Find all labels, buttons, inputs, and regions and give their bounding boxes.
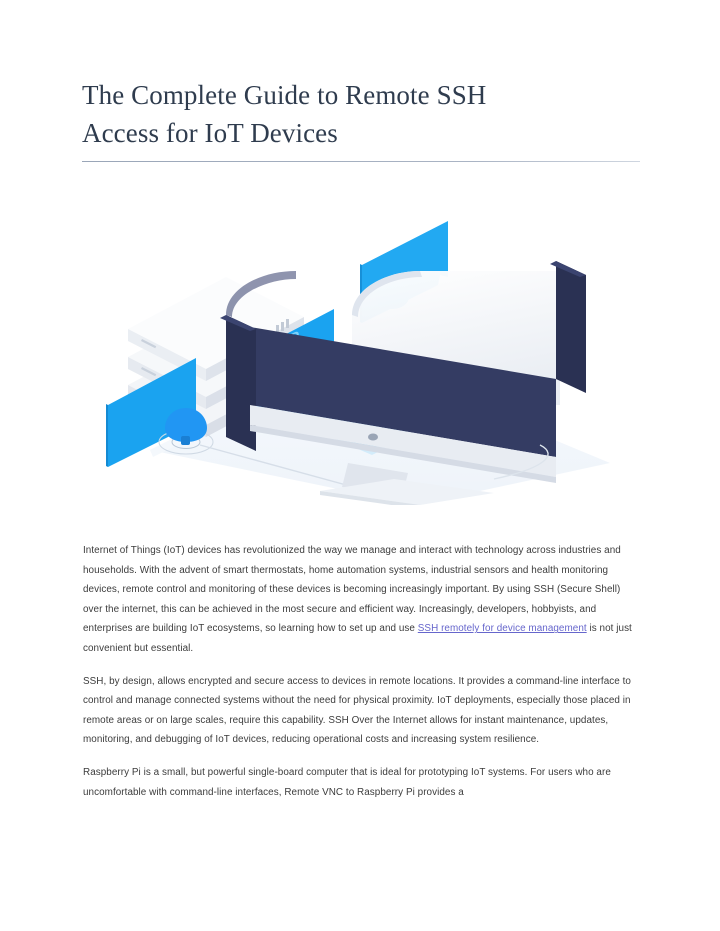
paragraph-intro-text-before-link: Internet of Things (IoT) devices has rev… <box>83 545 621 634</box>
page-title: The Complete Guide to Remote SSH Access … <box>82 76 562 152</box>
title-block: The Complete Guide to Remote SSH Access … <box>82 76 642 162</box>
document-page: The Complete Guide to Remote SSH Access … <box>0 0 720 931</box>
paragraph-intro: Internet of Things (IoT) devices has rev… <box>83 541 639 659</box>
ssh-remote-device-management-link[interactable]: SSH remotely for device management <box>418 623 587 634</box>
title-divider <box>82 161 640 162</box>
iot-remote-ssh-illustration: IP <box>90 205 630 505</box>
article-body: Internet of Things (IoT) devices has rev… <box>83 541 639 802</box>
paragraph-raspberry-pi: Raspberry Pi is a small, but powerful si… <box>83 763 639 802</box>
paragraph-ssh-design: SSH, by design, allows encrypted and sec… <box>83 672 639 750</box>
